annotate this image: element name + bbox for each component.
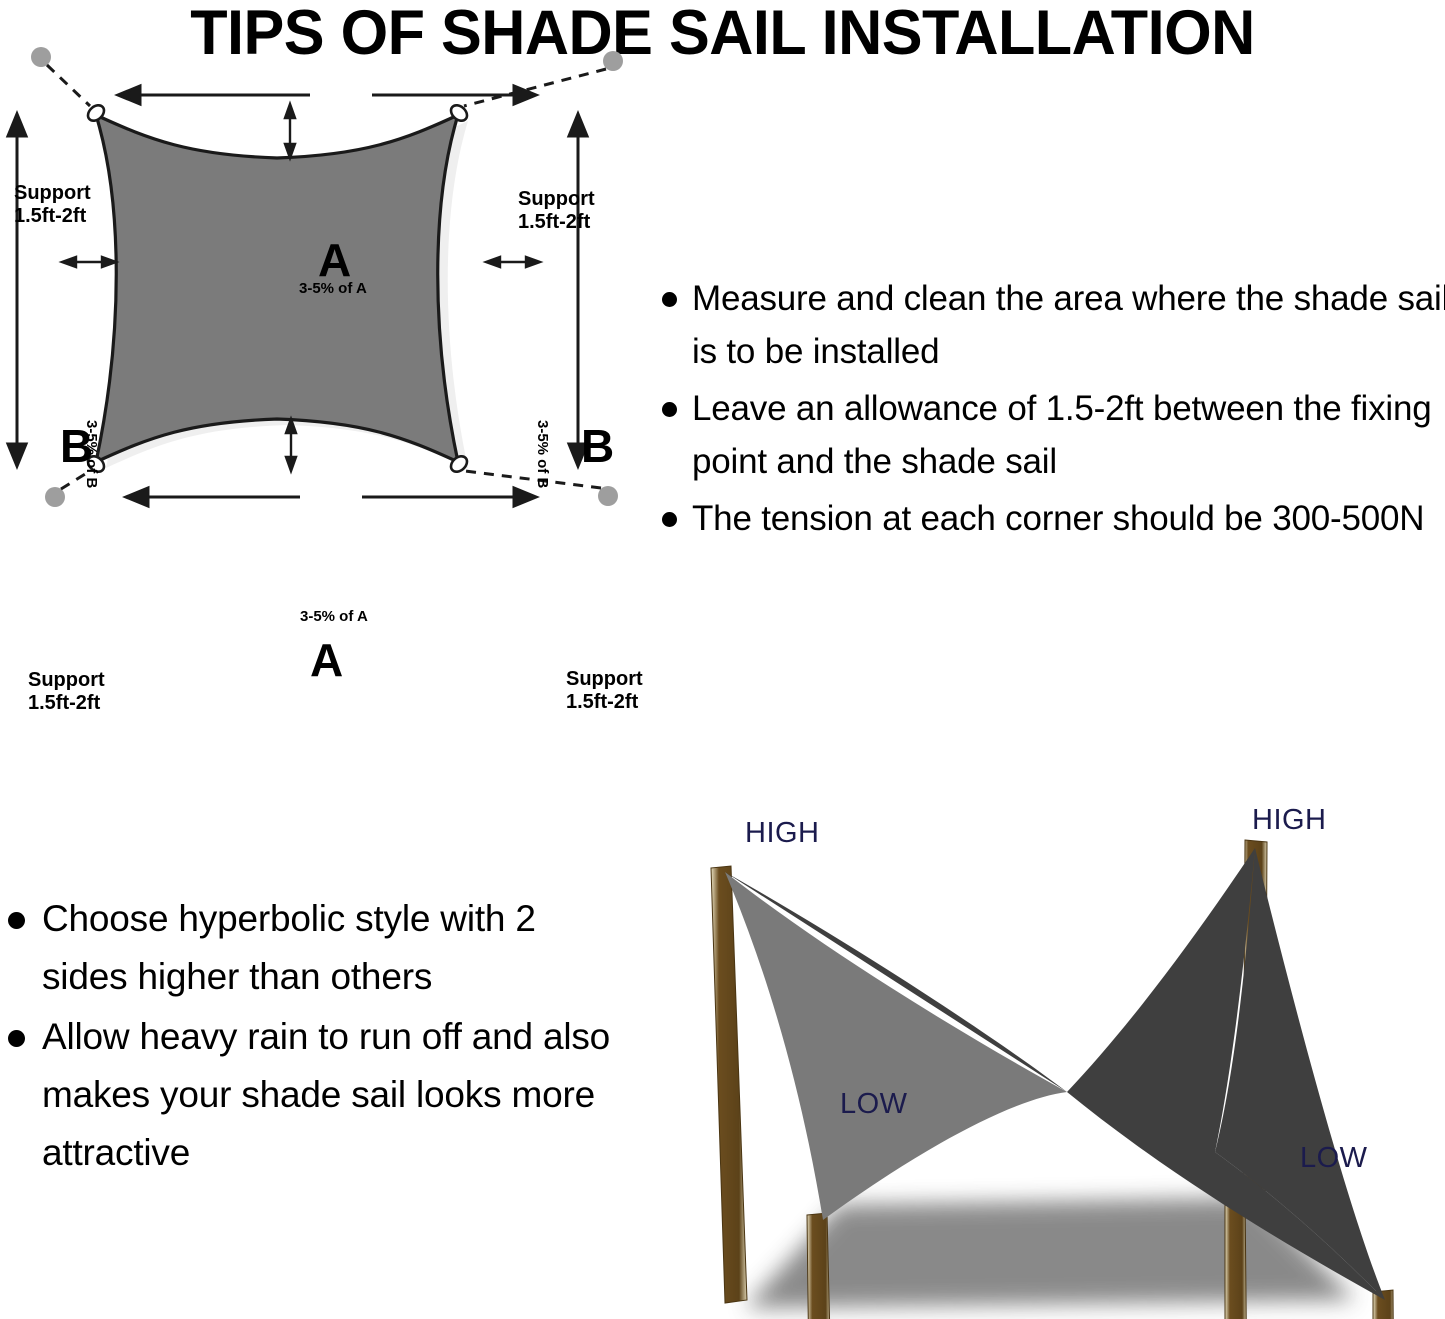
installation-tips-list-right: Measure and clean the area where the sha…	[650, 272, 1445, 549]
list-item: The tension at each corner should be 300…	[650, 492, 1445, 545]
curvature-note-a-top: 3-5% of A	[299, 281, 367, 297]
post-low-left	[807, 1213, 831, 1319]
dimension-label-b-right: B	[581, 423, 614, 469]
dimension-arrow-b-left	[8, 114, 26, 466]
hyperbolic-sail-diagram	[655, 780, 1445, 1319]
dimension-arrow-a-top	[118, 86, 536, 104]
label-low-left: LOW	[840, 1089, 908, 1119]
support-label-top-left: Support 1.5ft-2ft	[14, 182, 91, 228]
support-label-bottom-right: Support 1.5ft-2ft	[566, 668, 643, 714]
curvature-note-a-bottom: 3-5% of A	[300, 609, 368, 625]
list-item: Choose hyperbolic style with 2 sides hig…	[0, 890, 620, 1006]
list-item: Allow heavy rain to run off and also mak…	[0, 1008, 620, 1182]
infographic-page: TIPS OF SHADE SAIL INSTALLATION	[0, 0, 1445, 1319]
label-high-right: HIGH	[1252, 805, 1327, 835]
sail-shape	[96, 115, 458, 462]
dimension-arrow-a-bottom	[126, 488, 536, 506]
sail-panel-light	[725, 872, 1067, 1220]
list-item: Measure and clean the area where the sha…	[650, 272, 1445, 378]
dimension-label-a-top: A	[318, 237, 351, 283]
dimension-arrow-b-right	[569, 114, 587, 466]
post-high-left	[711, 866, 747, 1303]
dimension-label-a-bottom: A	[310, 637, 343, 683]
installation-tips-list-left: Choose hyperbolic style with 2 sides hig…	[0, 890, 620, 1184]
curvature-note-b-left: 3-5% of B	[83, 420, 99, 488]
curvature-note-b-right: 3-5% of B	[534, 420, 550, 488]
label-low-right: LOW	[1300, 1143, 1368, 1173]
label-high-left: HIGH	[745, 818, 820, 848]
support-label-bottom-left: Support 1.5ft-2ft	[28, 669, 105, 715]
support-label-top-right: Support 1.5ft-2ft	[518, 188, 595, 234]
list-item: Leave an allowance of 1.5-2ft between th…	[650, 382, 1445, 488]
